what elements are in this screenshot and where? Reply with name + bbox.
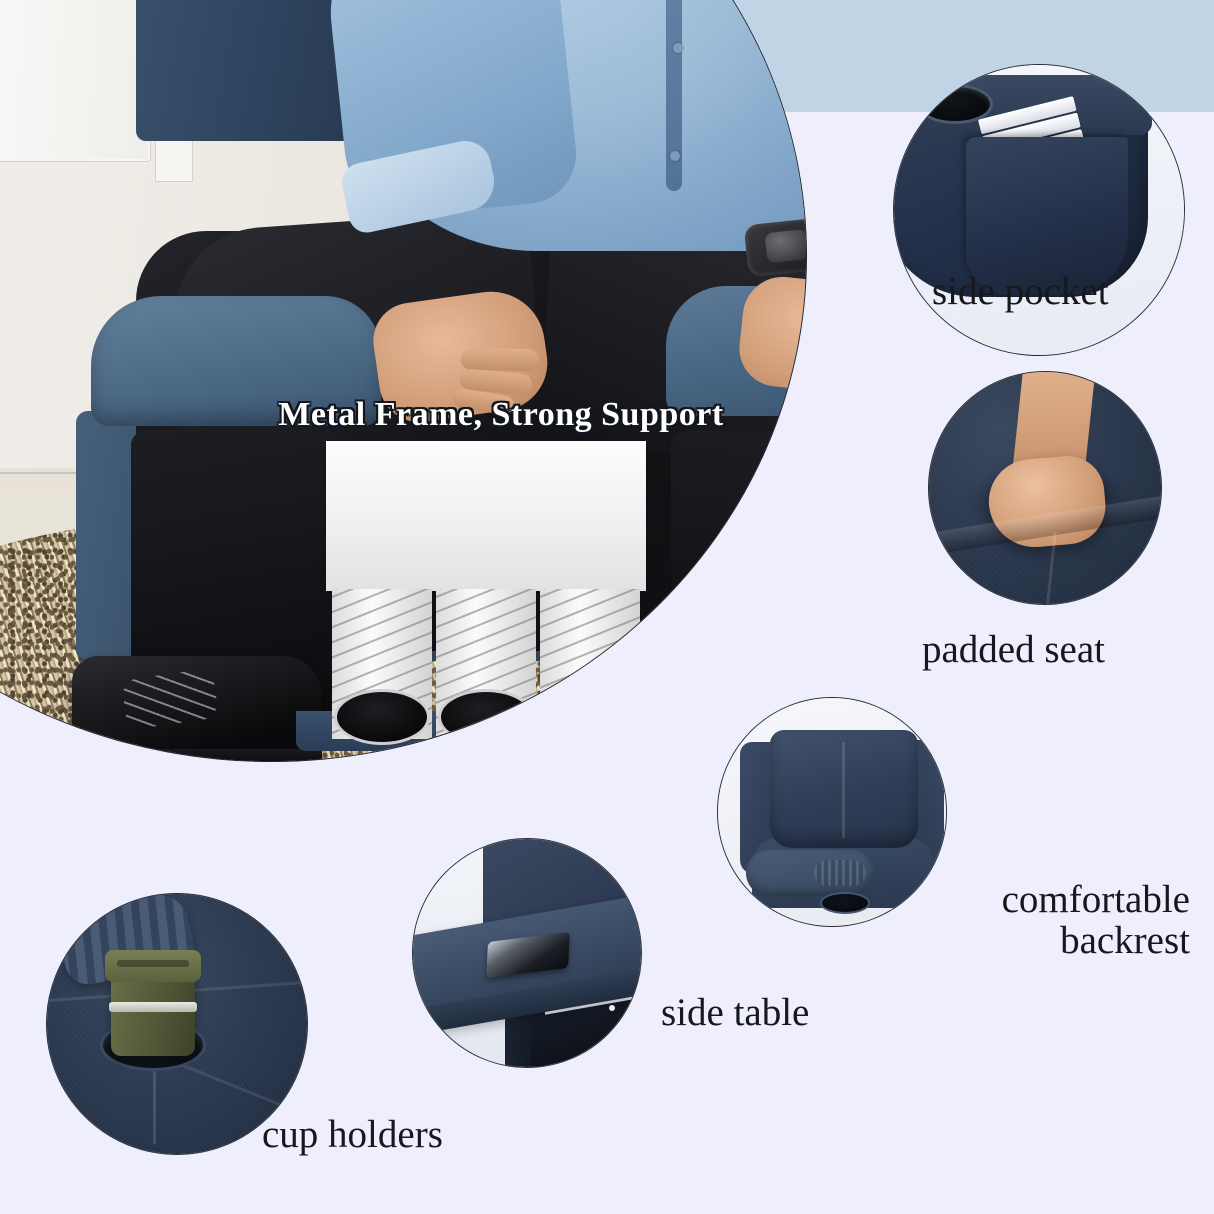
spring-coils-cutaway (332, 589, 640, 739)
product-details-page: PRODUCT DETAILS (0, 0, 1214, 1214)
label-side-table: side table (661, 993, 809, 1034)
cup-band (109, 1002, 197, 1012)
comfortable-backrest-photo-circle (717, 697, 947, 927)
label-line-2: backrest (1060, 919, 1190, 962)
label-padded-seat: padded seat (922, 630, 1105, 671)
label-cup-holders: cup holders (262, 1115, 443, 1156)
table-screw (609, 1005, 615, 1011)
label-line-1: comfortable (1002, 878, 1190, 921)
wall-panel (0, 0, 150, 161)
finger (461, 348, 539, 371)
label-comfortable-backrest: comfortable backrest (932, 880, 1190, 962)
metal-tube-end (334, 689, 430, 745)
hero-caption: Metal Frame, Strong Support (191, 396, 806, 434)
control-knob (1146, 71, 1168, 93)
padded-seat-photo-circle (928, 371, 1162, 605)
metal-tube-end (542, 689, 638, 745)
person-shoe-left (72, 656, 322, 761)
cup-hole (920, 87, 990, 121)
spring-coil (540, 589, 640, 739)
hero-photo-circle: Metal Frame, Strong Support (0, 0, 807, 762)
label-side-pocket: side pocket (932, 272, 1109, 313)
shirt-button (670, 151, 680, 161)
table-screw (627, 1011, 633, 1017)
side-table-photo-circle (412, 838, 642, 1068)
spring-coil (436, 589, 536, 739)
shirt-button (673, 43, 683, 53)
shirt-placket (666, 0, 682, 191)
backrest-scene (718, 698, 946, 926)
wristwatch (744, 217, 806, 277)
cup-lid (105, 950, 201, 982)
metal-tube-end (438, 689, 534, 745)
cup-hole (822, 894, 868, 912)
side-table-scene (413, 839, 641, 1067)
hero-scene: Metal Frame, Strong Support (0, 0, 806, 761)
armrest (746, 850, 874, 896)
cushion-pleat (842, 742, 845, 838)
spring-coil (332, 589, 432, 739)
foam-cutaway (326, 441, 646, 591)
padded-seat-scene (929, 372, 1161, 604)
